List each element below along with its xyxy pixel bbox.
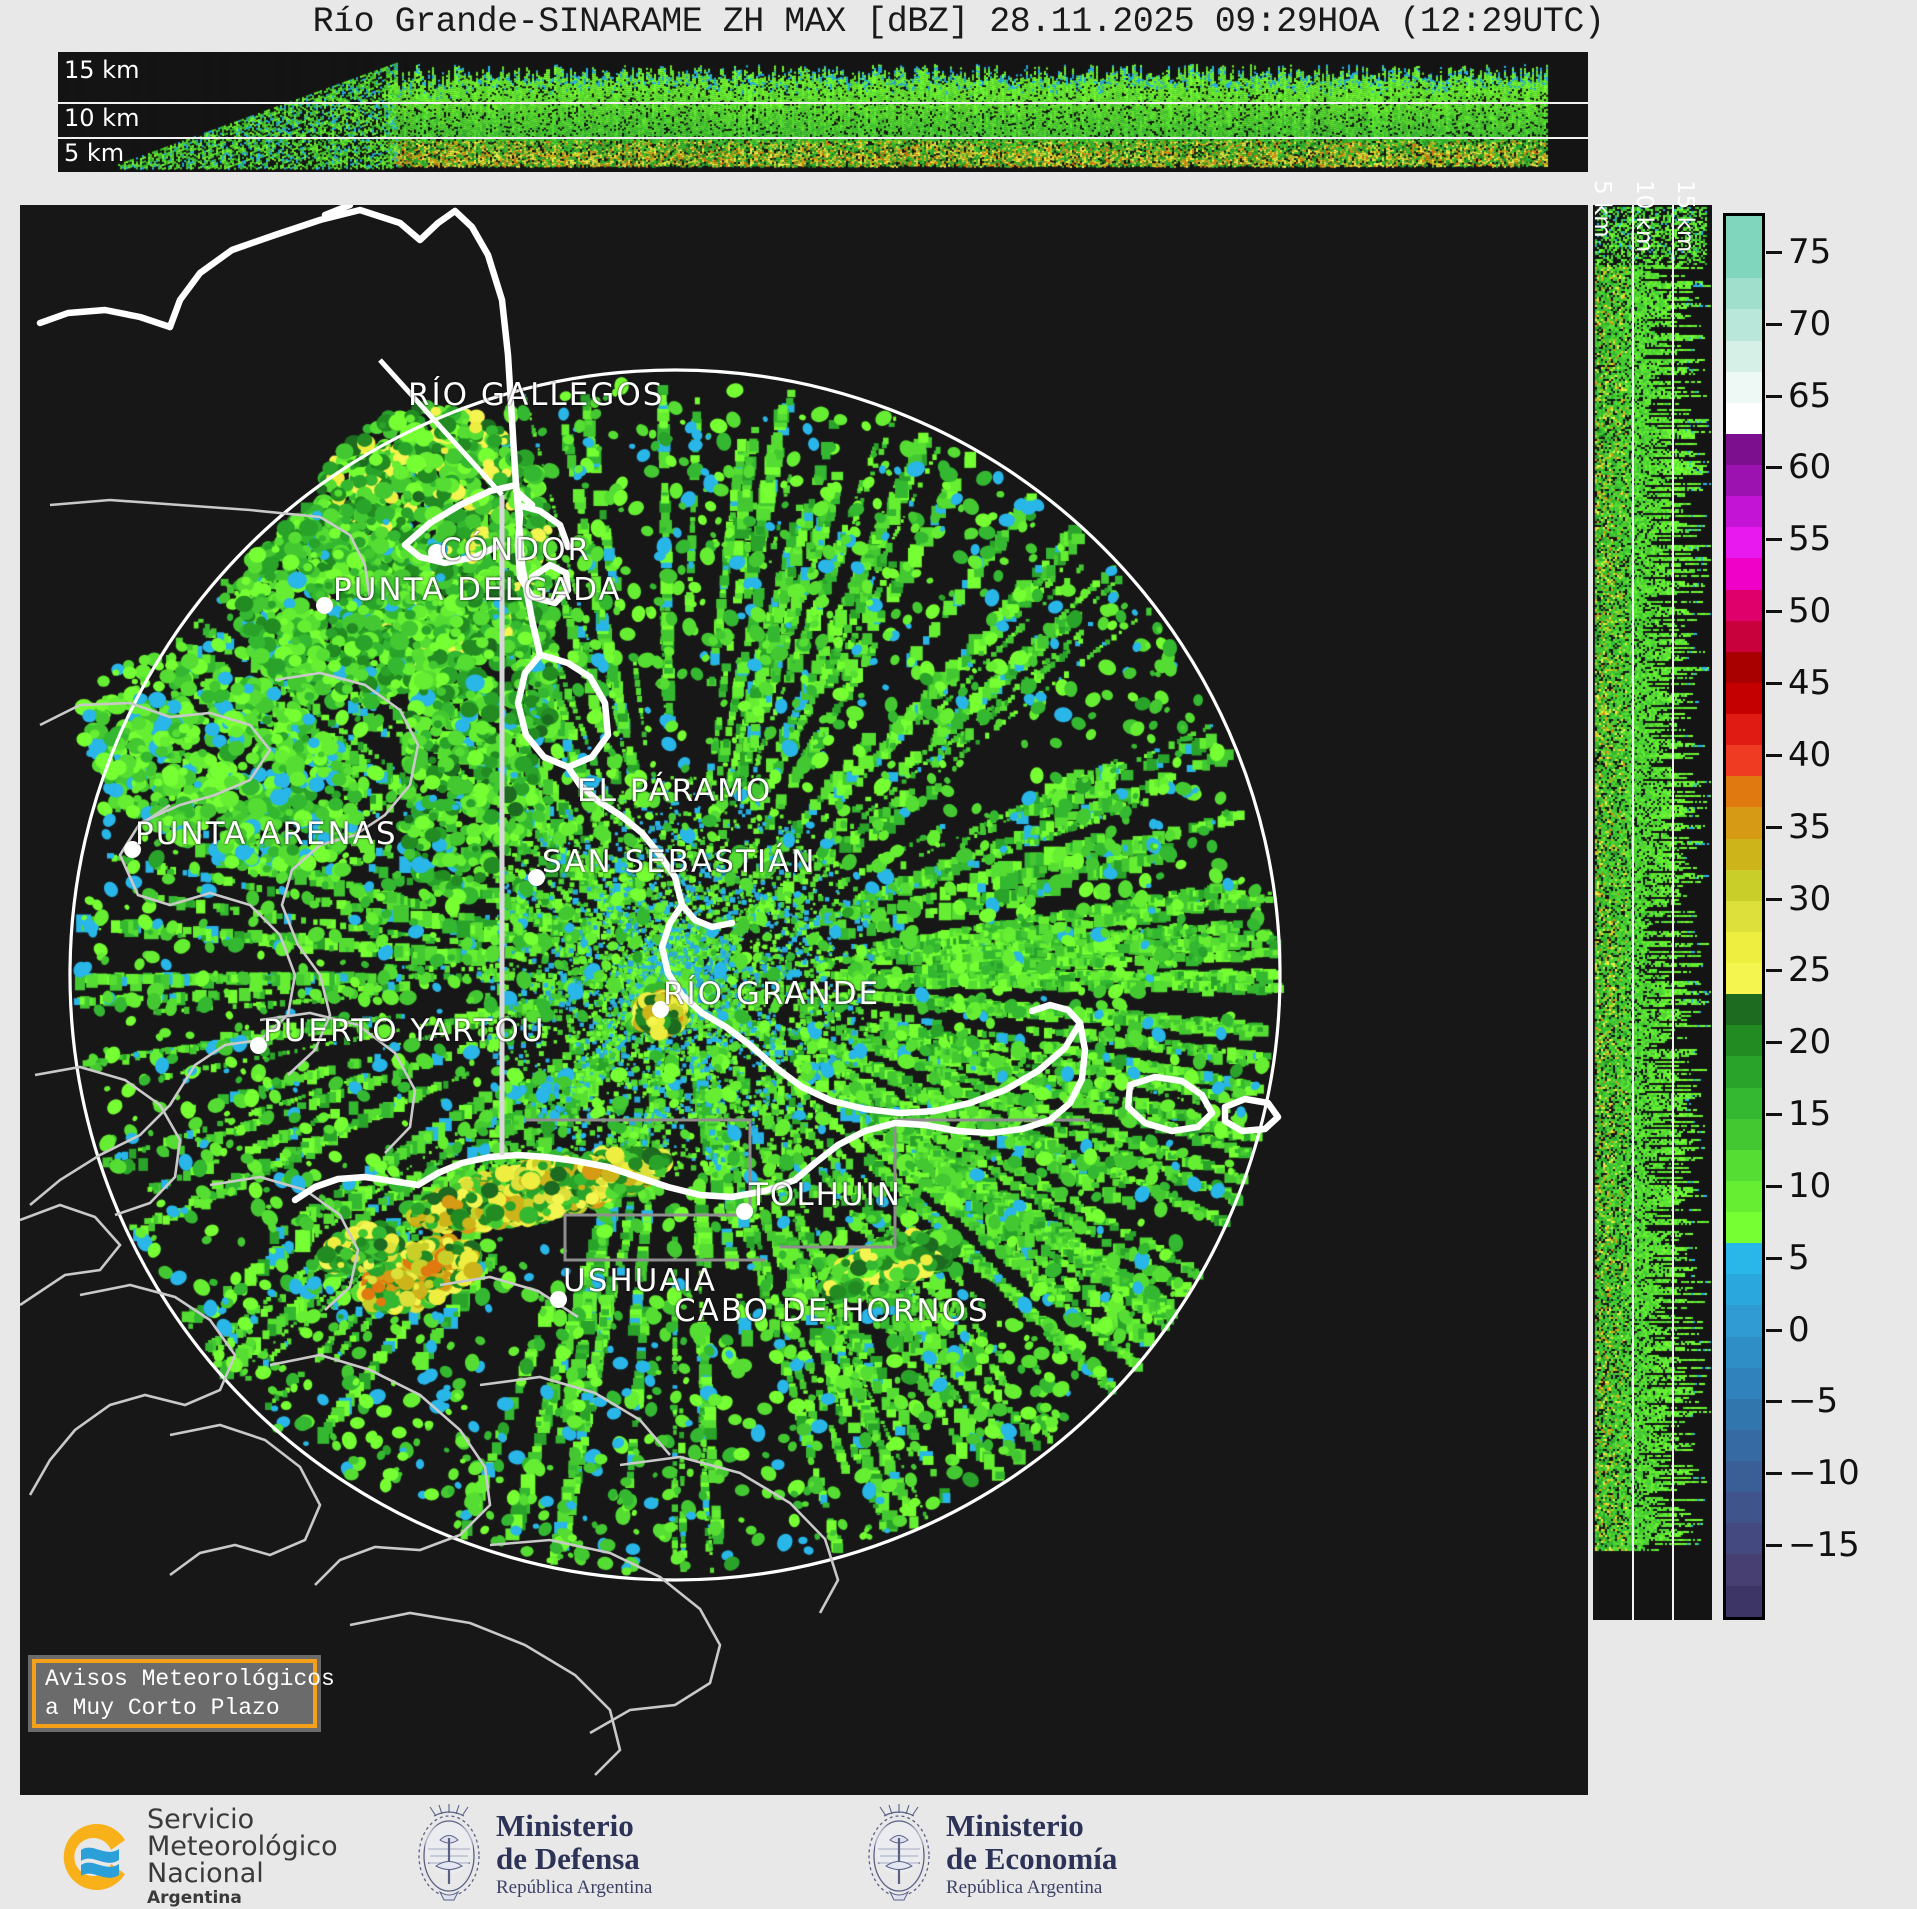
top-xsec-gridline-5km	[58, 137, 1588, 139]
right-cross-section-panel	[1593, 205, 1712, 1620]
defensa-logo-text: Ministerio de Defensa República Argentin…	[496, 1810, 652, 1898]
colorbar-segment	[1726, 372, 1762, 403]
colorbar-segment	[1726, 1119, 1762, 1150]
colorbar-segment	[1726, 1586, 1762, 1617]
city-label: CÓNDOR	[440, 532, 591, 568]
colorbar-segment	[1726, 621, 1762, 652]
colorbar-segment	[1726, 1274, 1762, 1305]
colorbar-tick	[1766, 1113, 1782, 1116]
colorbar-segment	[1726, 901, 1762, 932]
colorbar-tick-label: 20	[1788, 1022, 1831, 1062]
colorbar-tick-label: −15	[1788, 1525, 1860, 1565]
colorbar-tick-label: 30	[1788, 879, 1831, 919]
colorbar-tick-label: 15	[1788, 1094, 1831, 1134]
colorbar-segment	[1726, 465, 1762, 496]
colorbar-segment	[1726, 1305, 1762, 1336]
colorbar-tick	[1766, 1185, 1782, 1188]
top-xsec-label-10km: 10 km	[64, 104, 139, 132]
smn-line-3: Nacional	[147, 1860, 338, 1887]
right-xsec-label-10km: 10 km	[1631, 180, 1657, 252]
colorbar-segment	[1726, 1337, 1762, 1368]
colorbar-tick	[1766, 466, 1782, 469]
colorbar-tick-label: 75	[1788, 232, 1831, 272]
colorbar-tick	[1766, 1472, 1782, 1475]
colorbar-tick-label: 45	[1788, 663, 1831, 703]
colorbar-segment	[1726, 745, 1762, 776]
colorbar-segment	[1726, 652, 1762, 683]
colorbar-tick	[1766, 754, 1782, 757]
warning-line-2: a Muy Corto Plazo	[45, 1694, 304, 1723]
colorbar-segment	[1726, 1554, 1762, 1585]
colorbar-segment	[1726, 1025, 1762, 1056]
colorbar-tick	[1766, 1544, 1782, 1547]
colorbar-tick	[1766, 826, 1782, 829]
footer-logos: Servicio Meteorológico Nacional Argentin…	[0, 1796, 1917, 1909]
colorbar-tick	[1766, 1041, 1782, 1044]
warning-box-inner: Avisos Meteorológicos a Muy Corto Plazo	[32, 1659, 317, 1728]
colorbar-segment	[1726, 1056, 1762, 1087]
smn-logo-icon	[55, 1816, 137, 1898]
colorbar-tick	[1766, 1257, 1782, 1260]
radar-map-panel[interactable]: RÍO GALLEGOSCÓNDORPUNTA DELGADAPUNTA ARE…	[20, 205, 1588, 1795]
colorbar-tick	[1766, 1400, 1782, 1403]
colorbar-tick	[1766, 538, 1782, 541]
economia-line-1: Ministerio	[946, 1810, 1117, 1843]
economia-logo-text: Ministerio de Economía República Argenti…	[946, 1810, 1117, 1898]
colorbar-segment	[1726, 558, 1762, 589]
right-xsec-label-15km: 15 km	[1672, 180, 1698, 252]
colorbar-segment	[1726, 963, 1762, 994]
colorbar-tick	[1766, 395, 1782, 398]
top-xsec-gridline-10km	[58, 102, 1588, 104]
colorbar-segment	[1726, 1243, 1762, 1274]
colorbar-tick	[1766, 969, 1782, 972]
colorbar-tick-label: 10	[1788, 1166, 1831, 1206]
colorbar-tick-label: 35	[1788, 807, 1831, 847]
colorbar-segment	[1726, 1212, 1762, 1243]
colorbar-segment	[1726, 216, 1762, 247]
city-label: SAN SEBASTIÁN	[542, 844, 816, 880]
colorbar-tick-label: 50	[1788, 591, 1831, 631]
warning-line-1: Avisos Meteorológicos	[45, 1665, 304, 1694]
colorbar-tick-label: 65	[1788, 376, 1831, 416]
colorbar-segment	[1726, 1523, 1762, 1554]
colorbar-segment	[1726, 434, 1762, 465]
colorbar-segment	[1726, 1181, 1762, 1212]
smn-line-2: Meteorológico	[147, 1833, 338, 1860]
colorbar-tick	[1766, 610, 1782, 613]
smn-logo-text: Servicio Meteorológico Nacional Argentin…	[147, 1806, 338, 1907]
colorbar-segment	[1726, 403, 1762, 434]
colorbar-segment	[1726, 341, 1762, 372]
colorbar-segment	[1726, 1368, 1762, 1399]
economia-sub: República Argentina	[946, 1878, 1117, 1898]
logo-ministerio-defensa: Ministerio de Defensa República Argentin…	[410, 1804, 652, 1904]
top-xsec-label-15km: 15 km	[64, 56, 139, 84]
city-marker-dot[interactable]	[316, 597, 333, 614]
city-label: EL PÁRAMO	[577, 773, 772, 809]
colorbar-tick	[1766, 682, 1782, 685]
colorbar-tick-label: −10	[1788, 1453, 1860, 1493]
colorbar-segment	[1726, 527, 1762, 558]
colorbar-segment	[1726, 1430, 1762, 1461]
colorbar-segment	[1726, 994, 1762, 1025]
colorbar-segment	[1726, 278, 1762, 309]
colorbar-segment	[1726, 932, 1762, 963]
colorbar-segment	[1726, 1399, 1762, 1430]
colorbar-tick-label: −5	[1788, 1381, 1838, 1421]
defensa-sub: República Argentina	[496, 1878, 652, 1898]
logo-ministerio-economia: Ministerio de Economía República Argenti…	[860, 1804, 1117, 1904]
colorbar-tick-label: 70	[1788, 304, 1831, 344]
defensa-line-2: de Defensa	[496, 1843, 652, 1876]
economia-line-2: de Economía	[946, 1843, 1117, 1876]
top-cross-section-panel: 15 km 10 km 5 km	[58, 52, 1588, 172]
colorbar-segment	[1726, 309, 1762, 340]
city-label: RÍO GALLEGOS	[408, 377, 664, 413]
colorbar-tick-label: 5	[1788, 1238, 1810, 1278]
warning-box[interactable]: Avisos Meteorológicos a Muy Corto Plazo	[28, 1655, 321, 1732]
city-label: RÍO GRANDE	[663, 976, 880, 1012]
colorbar-tick-label: 60	[1788, 447, 1831, 487]
right-xsec-gridline-10km	[1632, 205, 1634, 1620]
coat-of-arms-icon	[860, 1804, 938, 1904]
city-label: PUNTA DELGADA	[333, 572, 622, 608]
right-xsec-label-5km: 5 km	[1589, 180, 1615, 238]
colorbar-segment	[1726, 590, 1762, 621]
colorbar-segment	[1726, 1461, 1762, 1492]
right-xsec-gridline-15km	[1672, 205, 1674, 1620]
colorbar-segment	[1726, 839, 1762, 870]
smn-sub: Argentina	[147, 1890, 338, 1907]
colorbar-segment	[1726, 683, 1762, 714]
city-label: TOLHUIN	[749, 1177, 902, 1213]
colorbar-tick	[1766, 898, 1782, 901]
right-cross-section-canvas	[1593, 205, 1712, 1620]
colorbar-segment	[1726, 807, 1762, 838]
colorbar-segment	[1726, 776, 1762, 807]
colorbar-segment	[1726, 714, 1762, 745]
city-label: CABO DE HORNOS	[674, 1293, 990, 1329]
colorbar-segment	[1726, 1150, 1762, 1181]
colorbar-tick-group: 757065605550454035302520151050−5−10−15	[1766, 213, 1916, 1620]
city-label: PUERTO YARTOU	[263, 1013, 546, 1049]
colorbar-segment	[1726, 870, 1762, 901]
range-ring	[70, 370, 1280, 1580]
colorbar-tick-label: 55	[1788, 519, 1831, 559]
colorbar-tick	[1766, 323, 1782, 326]
colorbar-segment	[1726, 1088, 1762, 1119]
page-title: Río Grande-SINARAME ZH MAX [dBZ] 28.11.2…	[0, 2, 1917, 42]
top-cross-section-canvas	[58, 52, 1588, 172]
colorbar-tick	[1766, 1329, 1782, 1332]
colorbar-tick	[1766, 251, 1782, 254]
top-xsec-label-5km: 5 km	[64, 139, 124, 167]
colorbar-segment	[1726, 496, 1762, 527]
defensa-line-1: Ministerio	[496, 1810, 652, 1843]
reflectivity-colorbar	[1723, 213, 1765, 1620]
coat-of-arms-icon	[410, 1804, 488, 1904]
colorbar-segment	[1726, 1492, 1762, 1523]
coastline-secondary	[20, 500, 838, 1775]
colorbar-tick-label: 40	[1788, 735, 1831, 775]
colorbar-segment	[1726, 247, 1762, 278]
colorbar-tick-label: 25	[1788, 950, 1831, 990]
coastline-primary	[40, 205, 1278, 1200]
city-label: PUNTA ARENAS	[135, 816, 398, 852]
logo-smn: Servicio Meteorológico Nacional Argentin…	[55, 1806, 338, 1907]
smn-line-1: Servicio	[147, 1806, 338, 1833]
colorbar-tick-label: 0	[1788, 1310, 1810, 1350]
